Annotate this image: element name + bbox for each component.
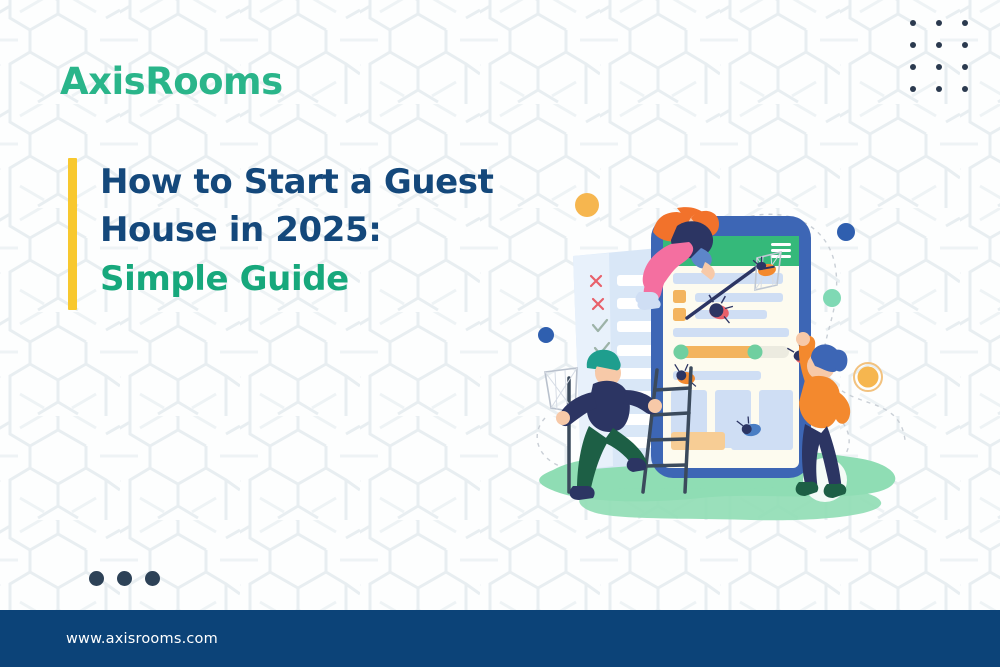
grid-dot bbox=[910, 42, 916, 48]
dot-grid-decoration bbox=[900, 12, 978, 100]
page-title-line-3: Simple Guide bbox=[100, 255, 494, 303]
grid-dot bbox=[936, 42, 942, 48]
headline-accent-bar bbox=[68, 158, 77, 310]
decor-dot bbox=[89, 571, 104, 586]
green-dot bbox=[823, 289, 841, 307]
grid-dot bbox=[962, 64, 968, 70]
headline-block: How to Start a Guest House in 2025: Simp… bbox=[68, 158, 494, 310]
page-title-line-1: How to Start a Guest bbox=[100, 158, 494, 206]
orange-circle bbox=[575, 193, 599, 217]
decor-dot bbox=[145, 571, 160, 586]
hero-illustration bbox=[505, 140, 925, 540]
grid-dot bbox=[936, 20, 942, 26]
brand-logo[interactable]: AxisRooms bbox=[60, 60, 283, 103]
footer-bar: www.axisrooms.com bbox=[0, 610, 1000, 667]
range-slider bbox=[673, 345, 789, 360]
blue-dot-right bbox=[837, 223, 855, 241]
grid-dot bbox=[910, 64, 916, 70]
blue-dot-left bbox=[538, 327, 554, 343]
orange-ring-circle bbox=[854, 363, 882, 391]
grid-dot bbox=[936, 64, 942, 70]
grid-dot bbox=[936, 86, 942, 92]
grid-dot bbox=[962, 42, 968, 48]
footer-url[interactable]: www.axisrooms.com bbox=[66, 631, 218, 647]
grid-dot bbox=[962, 20, 968, 26]
decor-dot bbox=[117, 571, 132, 586]
grid-dot bbox=[910, 86, 916, 92]
page-title-line-2: House in 2025: bbox=[100, 206, 494, 254]
three-dots-decoration bbox=[89, 571, 160, 586]
cover-canvas: AxisRooms How to Start a Guest House in … bbox=[0, 0, 1000, 667]
grid-dot bbox=[910, 20, 916, 26]
grid-dot bbox=[962, 86, 968, 92]
page-title: How to Start a Guest House in 2025: Simp… bbox=[100, 158, 494, 310]
